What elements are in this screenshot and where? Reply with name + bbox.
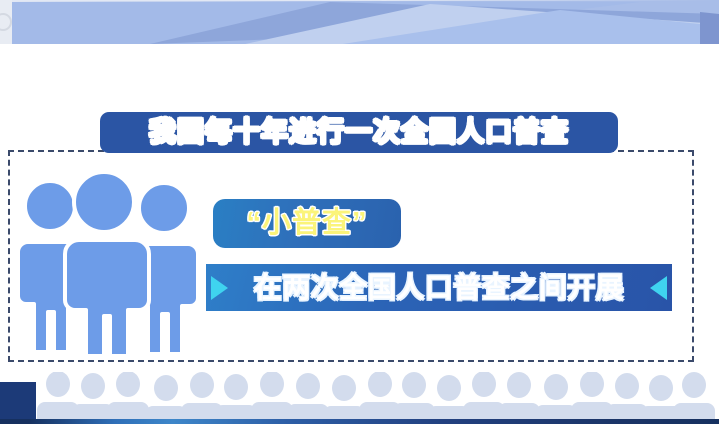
banner-shapes-icon xyxy=(0,0,719,48)
bottom-white-pad xyxy=(0,424,719,431)
crowd-figures-glyph-icon xyxy=(0,372,719,419)
crowd-silhouette-icon xyxy=(0,372,719,419)
top-decorative-banner xyxy=(0,0,719,48)
three-people-icon xyxy=(16,168,198,356)
triangle-right-icon xyxy=(211,276,228,300)
headline-banner: 我国每十年进行一次全国人口普查 xyxy=(100,112,618,153)
infographic-canvas: 我国每十年进行一次全国人口普查 “小普查” 在两次全国人口普查之间开展 xyxy=(0,0,719,431)
callout-small-census-label: “小普查” xyxy=(246,209,367,238)
callout-between-census-label: 在两次全国人口普查之间开展 xyxy=(228,274,650,302)
callout-small-census: “小普查” xyxy=(213,199,401,248)
triangle-left-icon xyxy=(650,276,667,300)
headline-text: 我国每十年进行一次全国人口普查 xyxy=(149,119,569,146)
bottom-left-navy-block xyxy=(0,382,36,419)
three-people-glyph-icon xyxy=(16,168,198,356)
callout-between-census: 在两次全国人口普查之间开展 xyxy=(206,264,672,311)
